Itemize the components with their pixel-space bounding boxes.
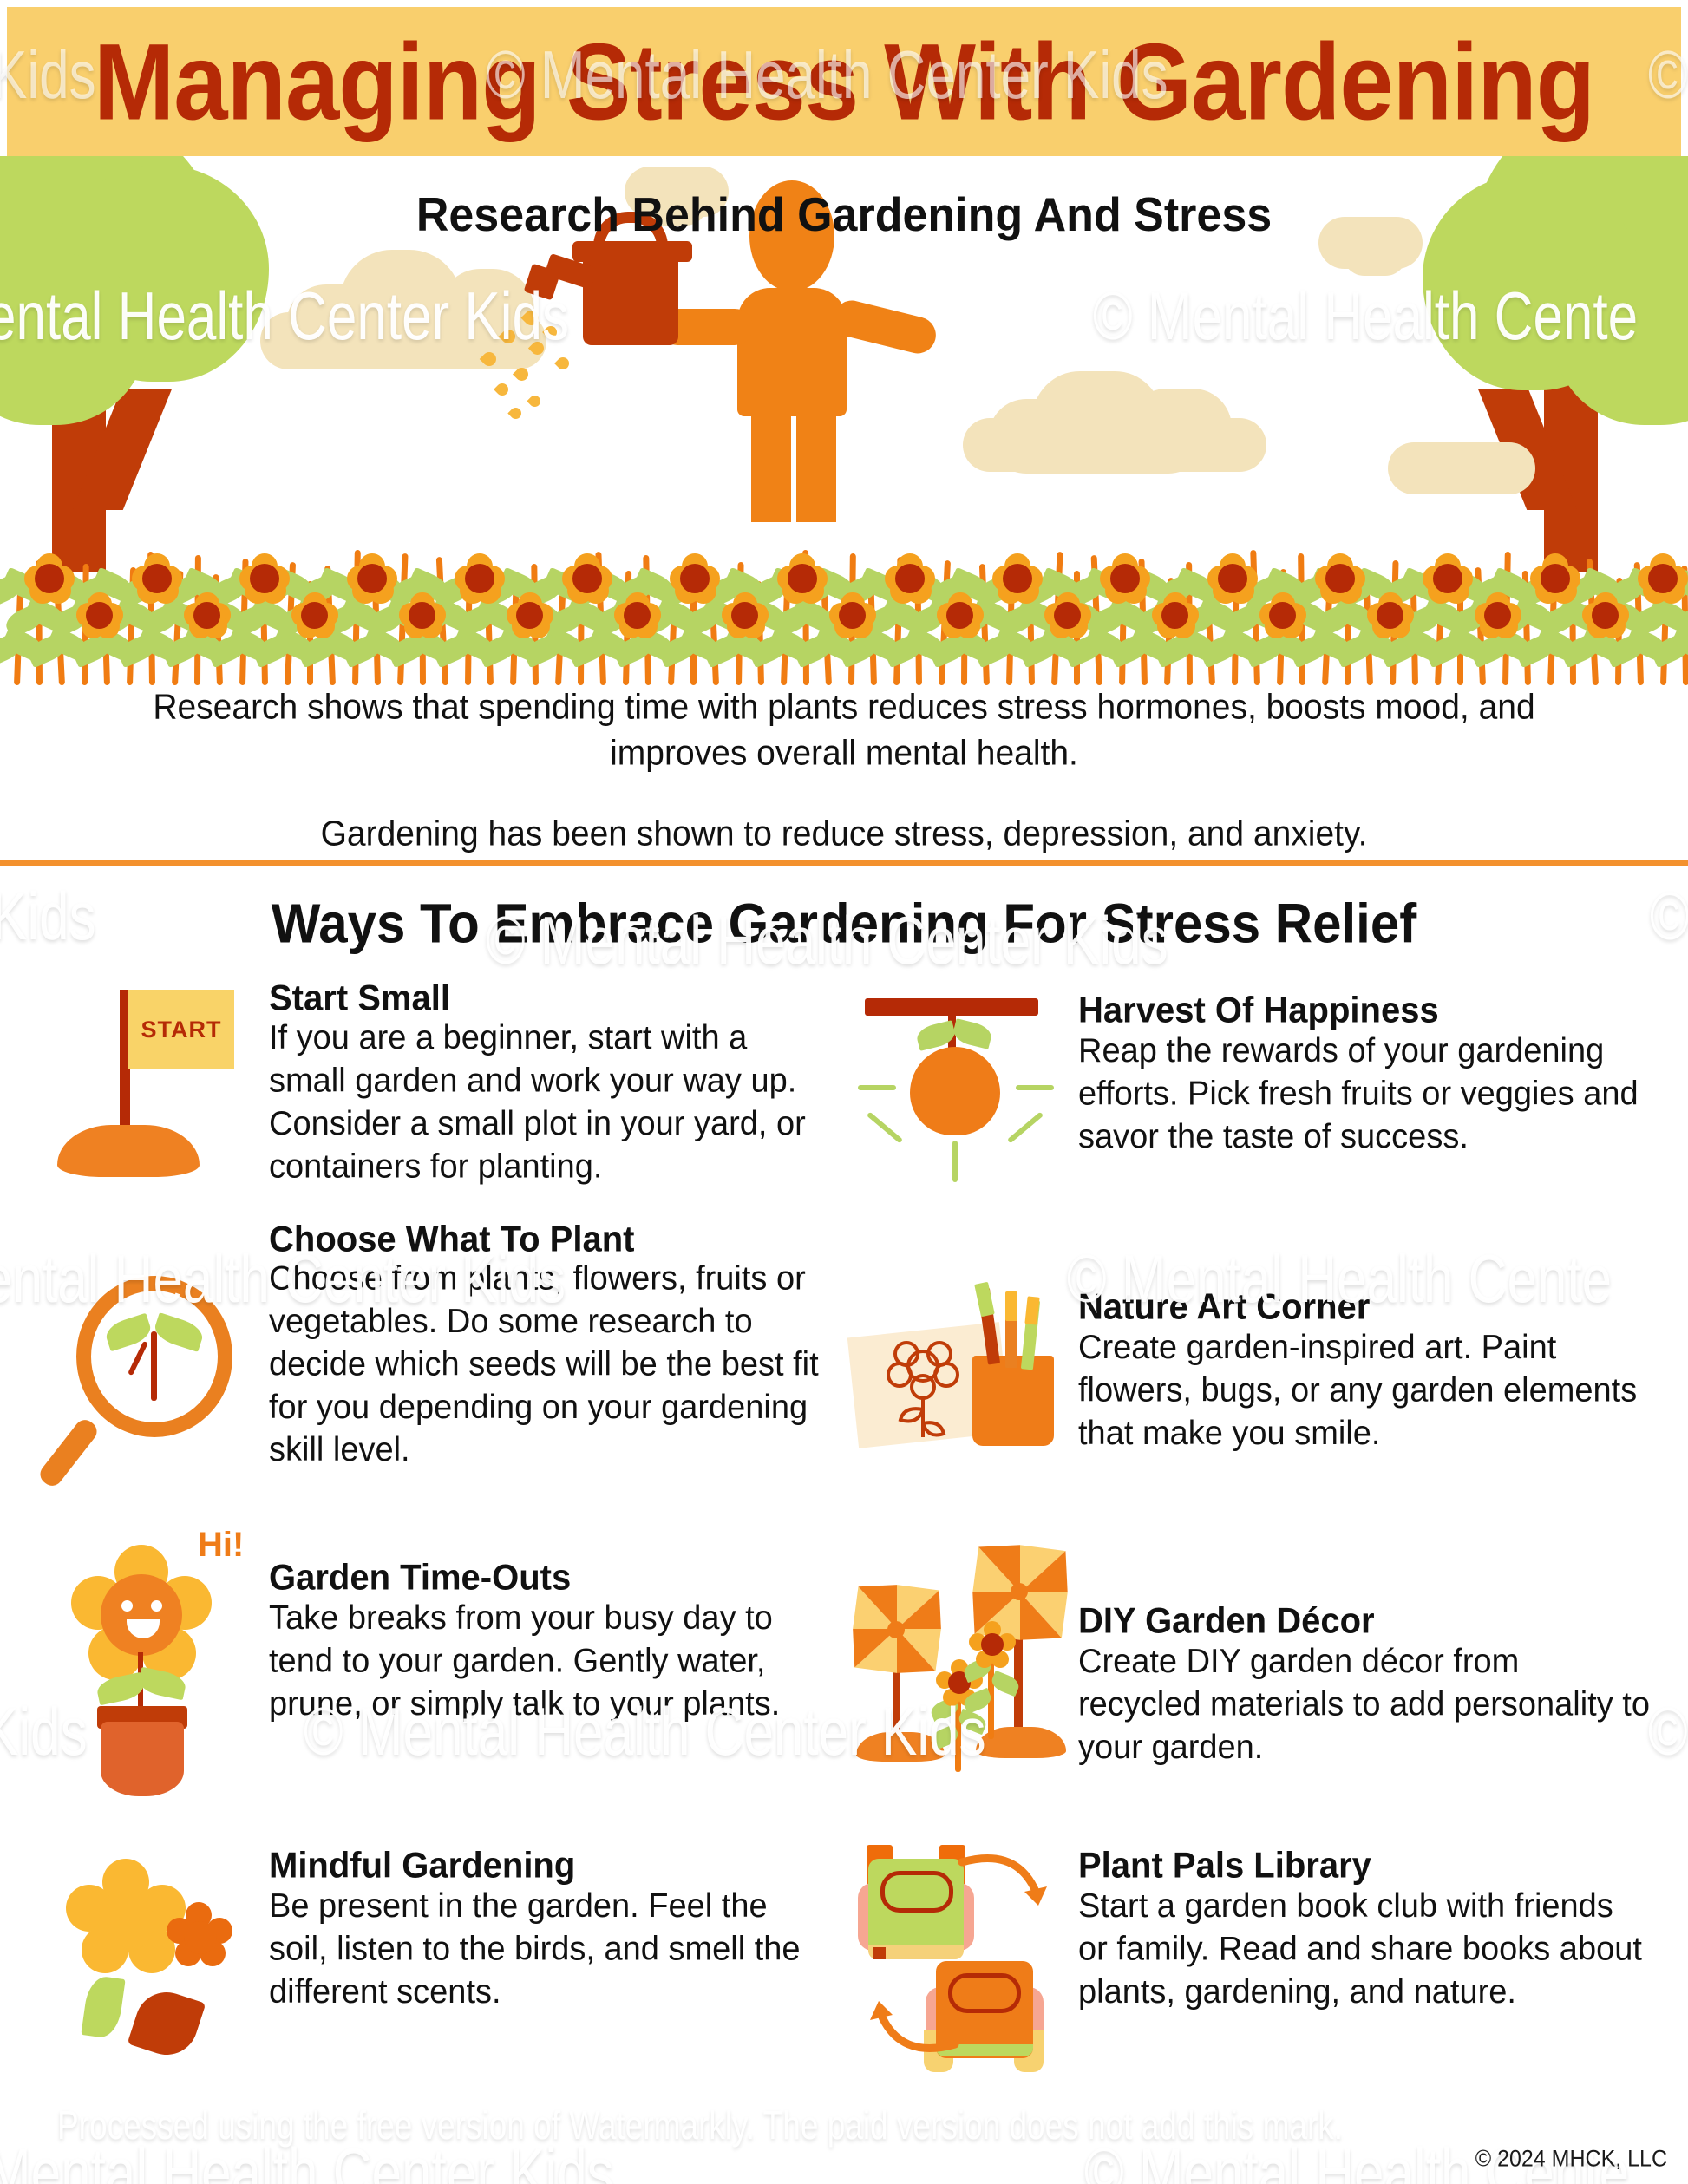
infographic-page: Managing Stress With Gardening Kids © Me… [0,0,1688,2184]
arrow-counterclockwise-icon [858,1987,962,2056]
cloud-right-low [1388,442,1535,494]
field-flower [994,555,1041,602]
tips-column-left: START Start Small If you are a beginner,… [0,976,844,2129]
tip-title: Choose What To Plant [269,1220,833,1260]
field-flower [616,593,659,637]
field-flower [1102,555,1148,602]
person-left-leg [751,409,791,522]
hero-illustration: Research Behind Gardening And Stress [0,156,1688,685]
tip-title: Harvest Of Happiness [1078,991,1651,1031]
field-flower [508,593,552,637]
start-flag-icon: START [52,976,269,1184]
tip-mindful-gardening[interactable]: Mindful Gardening Be present in the gard… [52,1843,833,2060]
header-band: Managing Stress With Gardening [7,7,1681,156]
tips-column-right: Harvest Of Happiness Reap the rewards of… [844,976,1688,2129]
field-flower [456,555,503,602]
tip-title: Nature Art Corner [1078,1287,1651,1328]
tip-text: Harvest Of Happiness Reap the rewards of… [1078,988,1651,1156]
hanging-fruit-icon [844,988,1078,1196]
tip-harvest-of-happiness[interactable]: Harvest Of Happiness Reap the rewards of… [844,988,1651,1196]
pinwheel-hub [1011,1583,1028,1600]
tip-body: Take breaks from your busy day to tend t… [269,1598,833,1726]
intro-copy: Research shows that spending time with p… [0,687,1688,857]
flower-eye-left [121,1600,133,1612]
tip-body: Create DIY garden décor from recycled ma… [1078,1641,1651,1769]
tip-body: Reap the rewards of your gardening effor… [1078,1030,1651,1159]
tip-body: Create garden-inspired art. Paint flower… [1078,1327,1651,1455]
smiling-potted-flower-icon: Hi! [52,1522,269,1774]
field-flower [1639,555,1686,602]
flower-field: {} [0,529,1688,685]
tip-body: If you are a beginner, start with a smal… [269,1017,833,1188]
person-right-leg [796,409,836,522]
field-flower [1154,593,1197,637]
tip-title: DIY Garden Décor [1078,1601,1651,1642]
paintbrush-bristle [1005,1291,1017,1321]
field-flower [1261,593,1305,637]
tip-title: Mindful Gardening [269,1846,833,1886]
soil-mound [57,1125,200,1177]
tip-text: DIY Garden Décor Create DIY garden décor… [1078,1540,1651,1767]
paintbrush-bristle [974,1282,995,1317]
tips-grid: START Start Small If you are a beginner,… [0,976,1688,2129]
tip-body: Choose from plants, flowers, fruits or v… [269,1258,833,1472]
intro-paragraph-1: Research shows that spending time with p… [0,685,1688,776]
flowers-and-leaves-icon [52,1843,269,2060]
field-flower [78,593,121,637]
field-flower [186,593,229,637]
tip-nature-art-corner[interactable]: Nature Art Corner Create garden-inspired… [844,1253,1651,1479]
magnifier-handle [36,1416,101,1489]
tip-choose-what-to-plant[interactable]: Choose What To Plant Choose from plants,… [52,1217,833,1468]
field-flower [1424,555,1471,602]
sparkle-ray [858,1085,896,1090]
brush-cup [972,1356,1054,1446]
fruit-body [910,1047,1000,1135]
paper-and-paintbrushes-icon [844,1253,1078,1479]
tip-text: Garden Time-Outs Take breaks from your b… [269,1522,833,1723]
tip-start-small[interactable]: START Start Small If you are a beginner,… [52,976,833,1186]
tip-garden-time-outs[interactable]: Hi! Garden Time-Ou [52,1522,833,1774]
flower-face [101,1574,182,1656]
pot-body [101,1722,184,1796]
person-torso [737,288,847,416]
field-flower [1584,593,1627,637]
tip-title: Garden Time-Outs [269,1558,833,1599]
small-flower-center [184,1921,217,1954]
field-flower [887,555,933,602]
flower-eye-right [151,1600,162,1612]
flag-cloth: START [128,990,234,1069]
field-flower [671,555,718,602]
tip-text: Nature Art Corner Create garden-inspired… [1078,1253,1651,1453]
book-exchange-icon [844,1843,1078,2060]
sparkle-ray [867,1112,903,1144]
tip-text: Plant Pals Library Start a garden book c… [1078,1843,1651,2011]
field-flower [241,555,288,602]
hi-greeting-label: Hi! [198,1526,244,1565]
magnifying-glass-sprout-icon [52,1217,269,1468]
page-title: Managing Stress With Gardening [94,19,1594,144]
field-flower [564,555,611,602]
fruit-leaf-right [952,1018,994,1049]
sprout-stem [151,1331,157,1401]
pinwheel-garden-icon [844,1540,1078,1791]
tip-body: Be present in the garden. Feel the soil,… [269,1886,833,2014]
field-flower [1369,593,1412,637]
sparkle-ray [1007,1112,1044,1144]
tip-title: Start Small [269,978,833,1019]
intro-paragraph-2: Gardening has been shown to reduce stres… [0,812,1688,858]
field-flower [1317,555,1364,602]
section-title: Ways To Embrace Gardening For Stress Rel… [0,892,1688,956]
tip-plant-pals-library[interactable]: Plant Pals Library Start a garden book c… [844,1843,1651,2060]
tip-text: Mindful Gardening Be present in the gard… [269,1843,833,2011]
book-bookmark [873,1947,886,1959]
pinwheel-hub [887,1621,905,1638]
green-leaf [81,1974,125,2039]
field-flower [1046,593,1089,637]
field-flower [26,555,73,602]
tip-text: Start Small If you are a beginner, start… [269,976,833,1186]
field-flower [1476,593,1520,637]
drawn-flower-sketch [875,1338,971,1442]
field-flower [134,555,180,602]
field-flower [939,593,982,637]
watermark-bottom-left: Mental Health Center Kids [0,2135,614,2184]
tip-title: Plant Pals Library [1078,1846,1651,1886]
field-flower [779,555,826,602]
field-flower [1532,555,1579,602]
field-flower [1209,555,1256,602]
tip-diy-garden-decor[interactable]: DIY Garden Décor Create DIY garden décor… [844,1540,1651,1791]
field-flower [293,593,337,637]
section-divider [0,860,1688,866]
field-flower [831,593,874,637]
sparkle-ray [1016,1085,1054,1090]
hero-subtitle: Research Behind Gardening And Stress [0,187,1688,243]
red-leaf [128,1985,206,2063]
tip-text: Choose What To Plant Choose from plants,… [269,1217,833,1468]
book-cover-window [880,1871,953,1913]
sparkle-ray [952,1141,958,1182]
field-flower [723,593,767,637]
arrow-clockwise-icon [957,1852,1061,1921]
tip-body: Start a garden book club with friends or… [1078,1886,1651,2014]
large-flower-center [94,1892,154,1952]
copyright-notice: © 2024 MHCK, LLC [1475,2146,1667,2173]
field-flower [401,593,444,637]
field-flower [349,555,396,602]
